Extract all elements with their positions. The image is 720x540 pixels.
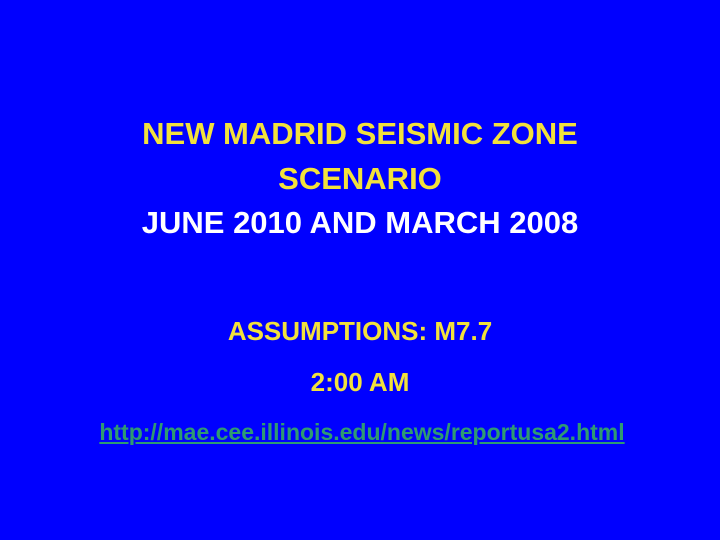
presentation-slide: NEW MADRID SEISMIC ZONE SCENARIO JUNE 20… <box>0 0 720 540</box>
assumptions-line: ASSUMPTIONS: M7.7 <box>48 306 672 357</box>
report-url-link[interactable]: http://mae.cee.illinois.edu/news/reportu… <box>99 419 624 445</box>
slide-body: ASSUMPTIONS: M7.7 2:00 AM <box>48 306 672 408</box>
title-line-3: JUNE 2010 AND MARCH 2008 <box>48 201 672 246</box>
title-line-1: NEW MADRID SEISMIC ZONE <box>48 112 672 157</box>
time-line: 2:00 AM <box>48 357 672 408</box>
slide-title: NEW MADRID SEISMIC ZONE SCENARIO JUNE 20… <box>48 112 672 246</box>
reference-link-container: http://mae.cee.illinois.edu/news/reportu… <box>58 414 666 451</box>
title-line-2: SCENARIO <box>48 157 672 202</box>
